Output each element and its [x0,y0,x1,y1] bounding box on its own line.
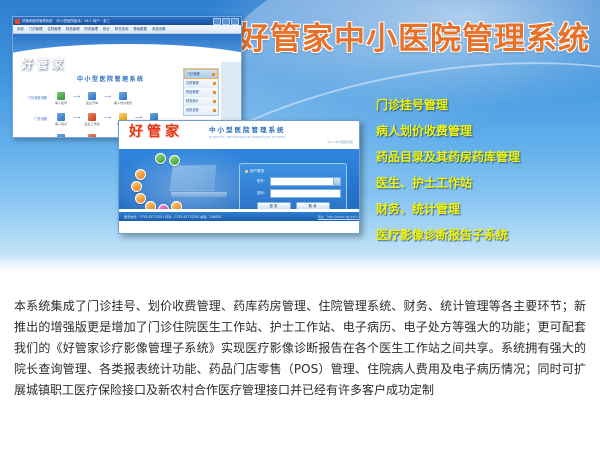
step-caption: 病人挂号 [50,101,72,105]
app-logo: 好管家 [21,58,66,71]
workflow-step: 病人就诊 [50,113,72,126]
side-menu-label: 系统设置 [186,107,199,113]
password-input [270,189,341,198]
password-label: 密码： [245,190,270,197]
badge-icon [135,193,146,204]
bullet-icon [213,100,216,103]
arrow-icon: ⟶ [72,93,81,101]
bullet-icon [213,91,216,94]
username-input [270,177,341,186]
app-title-bar: 好管家医院管理系统 （中小型医院版本）V6.1 用户：张三 [13,17,241,25]
login-header: 好管家 中小型医院管理系统 HOSPITAL INFORMATION OPERA… [119,121,359,149]
side-menu-label: 住院管理 [186,80,199,86]
footer-url: 网址：http://www.hgj-soft.com [318,214,359,220]
side-menu-panel: 门诊管理 住院管理 药品管理 财务统计 系统设置 [183,68,219,116]
step-caption: 医生开单 [81,101,103,105]
side-menu-label: 门诊管理 [187,71,200,77]
maximize-icon [222,18,230,25]
login-stage: 用户登录 账号： 密码： 登 录 取 消 服务热线：0755-82770291 … [119,149,359,221]
menu-item: 药品管理 [66,26,80,32]
arrow-icon: ⟶ [72,135,81,138]
badge-icon [135,169,146,180]
screenshot-login-window: 好管家 中小型医院管理系统 HOSPITAL INFORMATION OPERA… [118,120,360,234]
app-subtitle: 中小型医院管理系统 [77,76,145,84]
close-icon [231,18,239,25]
feature-item: 财务、统计管理 [376,202,520,216]
arrow-icon: ⟶ [103,135,112,138]
menu-item: 财务管理 [84,26,98,32]
minimize-icon [213,18,221,25]
workflow-step: 病人划价收费 [112,92,134,105]
user-icon [245,170,248,173]
window-controls [213,18,239,25]
menu-item: 系统设置 [152,26,166,32]
feature-item: 医疗影像诊断报告子系统 [376,228,520,242]
side-menu-item-drugs: 药品管理 [184,88,218,97]
step-icon [57,113,65,121]
step-caption: 医生工作站 [81,122,103,126]
login-title-english: HOSPITAL INFORMATION OPERATION SYSTEM [209,135,285,139]
bullet-icon [213,109,216,112]
login-panel-heading-text: 用户登录 [250,168,264,174]
menu-item: 院长查询 [115,26,129,32]
side-menu-label: 药品管理 [186,89,199,95]
banner-bottom-fade [0,256,600,272]
feature-badge-ring [133,155,193,215]
username-label: 账号： [245,178,270,185]
username-row: 账号： [245,177,341,186]
description-paragraph: 本系统集成了门诊挂号、划价收费管理、药库药房管理、住院管理系统、财务、统计管理等… [14,296,586,401]
step-icon [57,134,65,137]
side-menu-item-outpatient: 门诊管理 [184,69,218,79]
bullet-icon [213,82,216,85]
step-icon [119,92,127,100]
password-row: 密码： [245,189,341,198]
step-icon [57,92,65,100]
login-footer: 服务热线：0755-82770291 传真：0755-82770295 邮编：5… [119,212,359,221]
workflow-label: 门诊流程 [23,117,50,122]
workflow-step: 医生开单 [81,92,103,105]
menu-item: 系统 [17,26,24,32]
menu-item: 住院管理 [47,26,61,32]
menu-item: 基础数据 [133,26,147,32]
badge-icon [169,155,180,166]
step-caption: 病人就诊 [50,122,72,126]
page-title: 好管家中小医院管理系统 [238,22,590,56]
feature-item: 门诊挂号管理 [376,98,520,112]
workflow-step: 病人挂号 [50,92,72,105]
menu-item: 门诊管理 [29,26,43,32]
app-icon [15,19,20,24]
login-title: 中小型医院管理系统 [209,126,286,134]
workflow-label: 门诊收费流程 [23,96,50,101]
workflow-step: 医生工作站 [81,113,103,126]
workflow-step: 住院登记 [50,134,72,137]
side-menu-item-settings: 系统设置 [184,106,218,115]
arrow-icon: ⟶ [103,114,112,122]
feature-item: 病人划价收费管理 [376,124,520,138]
badge-icon [155,153,166,164]
bullet-icon [212,73,215,76]
side-menu-label: 财务统计 [186,98,199,104]
step-icon [88,113,96,121]
app-menu-bar: 系统 门诊管理 住院管理 药品管理 财务管理 统计 院长查询 基础数据 系统设置 [13,25,241,34]
menu-item: 统计 [103,26,110,32]
workflow-row: 门诊收费流程 病人挂号 ⟶ 医生开单 ⟶ 病人划价收费 [23,92,183,105]
footer-contact: 服务热线：0755-82770291 传真：0755-82770295 邮编：5… [124,214,221,220]
feature-item: 药品目录及其药房药库管理 [376,150,520,164]
badge-icon [131,181,142,192]
workflow-step: 医生工作站 [81,134,103,137]
feature-item: 医生、护士工作站 [376,176,520,190]
step-icon [88,92,96,100]
login-version: V6.1 中小型医院版 [327,140,353,144]
arrow-icon: ⟶ [103,93,112,101]
side-menu-item-inpatient: 住院管理 [184,79,218,88]
login-panel-heading: 用户登录 [245,168,341,174]
login-logo: 好管家 [129,124,183,140]
side-menu-item-finance: 财务统计 [184,97,218,106]
step-caption: 病人划价收费 [112,101,134,105]
feature-list: 门诊挂号管理 病人划价收费管理 药品目录及其药房药库管理 医生、护士工作站 财务… [376,98,520,254]
step-icon [88,134,96,137]
arrow-icon: ⟶ [72,114,81,122]
app-title-text: 好管家医院管理系统 （中小型医院版本）V6.1 用户：张三 [22,19,211,24]
